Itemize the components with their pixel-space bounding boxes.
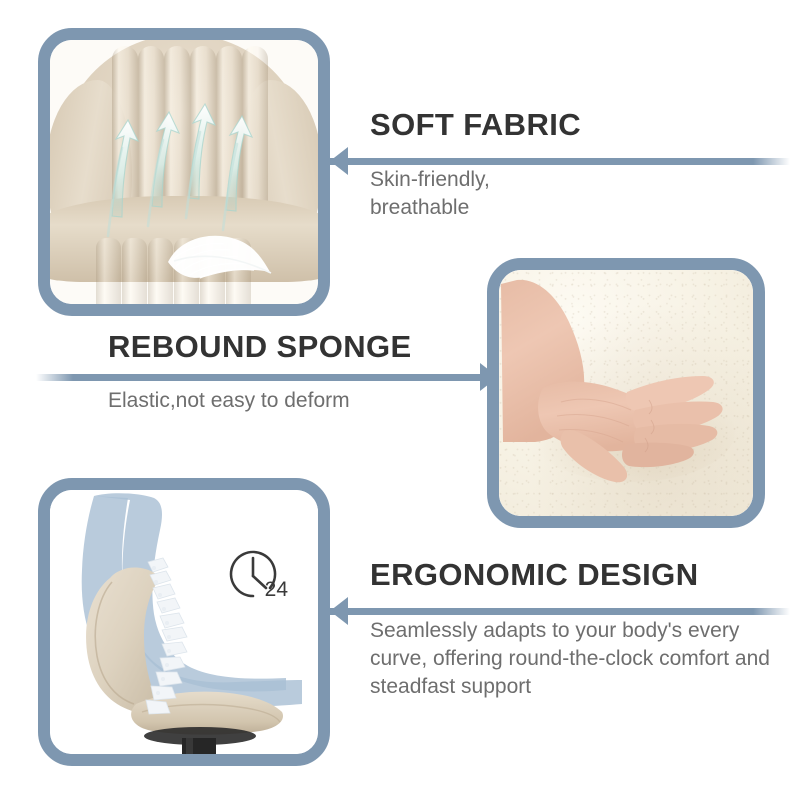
feature-image-panel-rebound-sponge xyxy=(487,258,765,528)
connector-arrowhead-ergonomic-design xyxy=(330,597,348,625)
panel-inner-rebound-sponge xyxy=(499,270,753,516)
feature-image-panel-soft-fabric xyxy=(38,28,330,316)
hand-on-foam-illustration xyxy=(499,270,753,516)
hand-pressing-foam-icon xyxy=(499,270,753,516)
ergonomic-chair-illustration: 24 xyxy=(50,490,318,754)
feature-description-rebound-sponge: Elastic,not easy to deform xyxy=(108,387,412,415)
panel-inner-ergonomic-design: 24 xyxy=(50,490,318,754)
connector-arrowhead-soft-fabric xyxy=(330,147,348,175)
feature-description-ergonomic-design: Seamlessly adapts to your body's every c… xyxy=(370,617,770,700)
infographic-canvas: SOFT FABRIC Skin-friendly, breathable xyxy=(0,0,800,800)
feature-description-soft-fabric: Skin-friendly, breathable xyxy=(370,166,610,221)
feature-heading-rebound-sponge: REBOUND SPONGE xyxy=(108,330,412,364)
chair-back-illustration xyxy=(50,40,318,304)
feature-image-panel-ergonomic-design: 24 xyxy=(38,478,330,766)
feature-heading-soft-fabric: SOFT FABRIC xyxy=(370,108,610,142)
feature-text-ergonomic-design: ERGONOMIC DESIGN Seamlessly adapts to yo… xyxy=(370,558,770,700)
clock-badge: 24 xyxy=(218,538,288,602)
feature-text-soft-fabric: SOFT FABRIC Skin-friendly, breathable xyxy=(370,108,610,222)
connector-arrowhead-rebound-sponge xyxy=(480,363,498,391)
feature-heading-ergonomic-design: ERGONOMIC DESIGN xyxy=(370,558,770,592)
feature-text-rebound-sponge: REBOUND SPONGE Elastic,not easy to defor… xyxy=(108,330,412,415)
clock-hours-value: 24 xyxy=(265,578,288,602)
chair-and-posture-diagram xyxy=(50,490,318,754)
panel-inner-soft-fabric xyxy=(50,40,318,304)
feather-icon xyxy=(158,228,276,288)
